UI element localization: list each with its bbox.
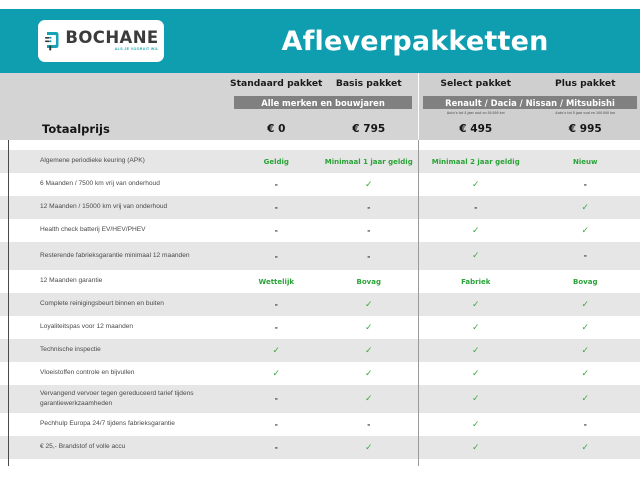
row-cell-dash: - (230, 203, 323, 212)
row-label: 12 Maanden / 15000 km vrij van onderhoud (40, 202, 230, 212)
page-title: Afleverpakketten (190, 9, 640, 73)
package-name-plus: Plus pakket (531, 78, 640, 94)
row-cell-check: ✓ (421, 300, 531, 310)
row-cell-dash: - (230, 300, 323, 310)
row-cell-check: ✓ (421, 443, 531, 453)
table-row: Complete reinigingsbeurt binnen en buite… (0, 293, 640, 316)
car-key-icon (43, 30, 60, 52)
row-cell-check: ✓ (531, 226, 640, 236)
row-cells-right: Minimaal 2 jaar geldigNieuw (421, 158, 640, 166)
row-cells-left: GeldigMinimaal 1 jaar geldig (230, 158, 415, 166)
row-cell-check: ✓ (531, 203, 640, 213)
row-cell-check: ✓ (421, 226, 531, 236)
afleverpakketten-page: BOCHANE ALS JE VOORUIT WIL Afleverpakket… (0, 0, 640, 480)
row-cell-check: ✓ (323, 443, 416, 453)
row-cells-right: ✓✓ (421, 323, 640, 333)
row-cell-dash: - (230, 394, 323, 404)
row-cell-check: ✓ (323, 180, 416, 190)
row-cell-dash: - (421, 203, 531, 213)
row-label: Vervangend vervoer tegen gereduceerd tar… (40, 389, 230, 409)
row-cell-dash: - (531, 251, 640, 261)
row-cell-check: ✓ (531, 443, 640, 453)
row-cells-left: -- (230, 203, 415, 212)
row-cells-left: -✓ (230, 300, 415, 310)
package-name-basis: Basis pakket (323, 78, 416, 94)
logo-wordmark: BOCHANE (65, 30, 158, 47)
table-row: Loyaliteitspas voor 12 maanden-✓✓✓ (0, 316, 640, 339)
table-row: Vervangend vervoer tegen gereduceerd tar… (0, 385, 640, 413)
row-cell-check: ✓ (323, 394, 416, 404)
row-label: € 25,- Brandstof of volle accu (40, 442, 230, 452)
row-cell-check: ✓ (531, 346, 640, 356)
row-cell-dash: - (230, 252, 323, 261)
row-cell-check: ✓ (531, 323, 640, 333)
row-cells-left: -✓ (230, 394, 415, 404)
row-cell-check: ✓ (531, 300, 640, 310)
total-price-values-right: € 495 € 995 (421, 123, 640, 135)
row-cells-left: ✓✓ (230, 346, 415, 356)
row-label: Algemene periodieke keuring (APK) (40, 156, 230, 166)
row-cells-right: ✓- (421, 420, 640, 430)
row-cells-left: ✓✓ (230, 369, 415, 379)
total-price-row: Totaalprijs € 0 € 795 € 495 € 995 (0, 117, 640, 140)
row-cell-dash: - (531, 420, 640, 430)
row-cell-text: Minimaal 2 jaar geldig (421, 158, 531, 166)
logo-tagline: ALS JE VOORUIT WIL (115, 48, 159, 52)
row-cell-dash: - (323, 420, 416, 429)
row-cell-check: ✓ (531, 369, 640, 379)
row-cell-dash: - (230, 443, 323, 453)
table-row: € 25,- Brandstof of volle accu-✓✓✓ (0, 436, 640, 459)
row-cell-dash: - (230, 180, 323, 190)
total-price-values-left: € 0 € 795 (230, 123, 415, 135)
logo-text: BOCHANE ALS JE VOORUIT WIL (65, 30, 158, 52)
row-cell-check: ✓ (323, 346, 416, 356)
package-name-select: Select pakket (421, 78, 531, 94)
row-cells-right: ✓✓ (421, 394, 640, 404)
row-cells-right: ✓✓ (421, 346, 640, 356)
row-cells-right: -✓ (421, 203, 640, 213)
total-price-plus: € 995 (531, 123, 640, 135)
row-cells-left: WettelijkBovag (230, 278, 415, 286)
table-row: Resterende fabrieksgarantie minimaal 12 … (0, 242, 640, 270)
package-names-left: Standaard pakket Basis pakket (230, 78, 415, 94)
total-price-label: Totaalprijs (42, 122, 110, 136)
row-cell-check: ✓ (421, 323, 531, 333)
total-price-basis: € 795 (323, 123, 416, 135)
row-label: Pechhulp Europa 24/7 tijdens fabrieksgar… (40, 419, 230, 429)
row-label: 12 Maanden garantie (40, 276, 230, 286)
row-cell-dash: - (323, 226, 416, 235)
row-label: Loyaliteitspas voor 12 maanden (40, 322, 230, 332)
row-label: Health check batterij EV/HEV/PHEV (40, 225, 230, 235)
row-cell-text: Bovag (323, 278, 416, 286)
table-bottom-spacer (0, 459, 640, 480)
row-cell-check: ✓ (421, 394, 531, 404)
row-cell-text: Minimaal 1 jaar geldig (323, 158, 416, 166)
row-cells-right: ✓✓ (421, 443, 640, 453)
row-cell-dash: - (230, 420, 323, 429)
row-label: Complete reinigingsbeurt binnen en buite… (40, 299, 230, 309)
row-label: Technische inspectie (40, 345, 230, 355)
row-cells-right: ✓✓ (421, 369, 640, 379)
row-cell-check: ✓ (421, 251, 531, 261)
row-cell-check: ✓ (531, 394, 640, 404)
brand-bar-left: Alle merken en bouwjaren (234, 96, 412, 109)
brand-bar-right: Renault / Dacia / Nissan / Mitsubishi (423, 96, 637, 109)
row-cell-check: ✓ (323, 300, 416, 310)
row-cells-left: -✓ (230, 180, 415, 190)
table-row: 12 Maanden garantieWettelijkBovagFabriek… (0, 270, 640, 293)
row-cells-right: FabriekBovag (421, 278, 640, 286)
table-group-divider (418, 140, 419, 466)
row-cells-left: -- (230, 226, 415, 235)
row-cells-right: ✓✓ (421, 300, 640, 310)
row-cell-dash: - (323, 203, 416, 212)
row-label: Resterende fabrieksgarantie minimaal 12 … (40, 251, 230, 261)
row-cell-check: ✓ (421, 180, 531, 190)
row-cells-left: -✓ (230, 443, 415, 453)
row-cells-left: -- (230, 252, 415, 261)
row-cell-check: ✓ (421, 420, 531, 430)
row-cell-dash: - (230, 226, 323, 235)
table-top-spacer (0, 140, 640, 150)
row-cells-right: ✓- (421, 180, 640, 190)
total-price-standaard: € 0 (230, 123, 323, 135)
header-band: BOCHANE ALS JE VOORUIT WIL Afleverpakket… (0, 9, 640, 73)
row-cell-text: Geldig (230, 158, 323, 166)
row-label: 6 Maanden / 7500 km vrij van onderhoud (40, 179, 230, 189)
table-row: Vloeistoffen controle en bijvullen✓✓✓✓ (0, 362, 640, 385)
row-cell-check: ✓ (323, 369, 416, 379)
table-row: Algemene periodieke keuring (APK)GeldigM… (0, 150, 640, 173)
row-cell-check: ✓ (421, 369, 531, 379)
row-cell-dash: - (230, 323, 323, 333)
package-names-right: Select pakket Plus pakket (421, 78, 640, 94)
header-group-divider (418, 73, 420, 140)
table-row: Health check batterij EV/HEV/PHEV--✓✓ (0, 219, 640, 242)
total-price-select: € 495 (421, 123, 531, 135)
row-cell-check: ✓ (230, 369, 323, 379)
row-cell-text: Wettelijk (230, 278, 323, 286)
row-cell-text: Fabriek (421, 278, 531, 286)
column-header-area: Standaard pakket Basis pakket Select pak… (0, 73, 640, 140)
row-label: Vloeistoffen controle en bijvullen (40, 368, 230, 378)
table-row: Pechhulp Europa 24/7 tijdens fabrieksgar… (0, 413, 640, 436)
table-row: 12 Maanden / 15000 km vrij van onderhoud… (0, 196, 640, 219)
row-cells-right: ✓- (421, 251, 640, 261)
table-row: Technische inspectie✓✓✓✓ (0, 339, 640, 362)
row-cells-right: ✓✓ (421, 226, 640, 236)
row-cell-dash: - (323, 252, 416, 261)
row-cell-check: ✓ (230, 346, 323, 356)
table-row: 6 Maanden / 7500 km vrij van onderhoud-✓… (0, 173, 640, 196)
package-name-standaard: Standaard pakket (230, 78, 323, 94)
table-left-rule (8, 140, 9, 466)
row-cell-dash: - (531, 180, 640, 190)
feature-comparison-table: Algemene periodieke keuring (APK)GeldigM… (0, 140, 640, 467)
row-cell-check: ✓ (421, 346, 531, 356)
row-cell-check: ✓ (323, 323, 416, 333)
row-cell-text: Bovag (531, 278, 640, 286)
row-cell-text: Nieuw (531, 158, 640, 166)
row-cells-left: -✓ (230, 323, 415, 333)
bochane-logo[interactable]: BOCHANE ALS JE VOORUIT WIL (38, 20, 164, 62)
row-cells-left: -- (230, 420, 415, 429)
